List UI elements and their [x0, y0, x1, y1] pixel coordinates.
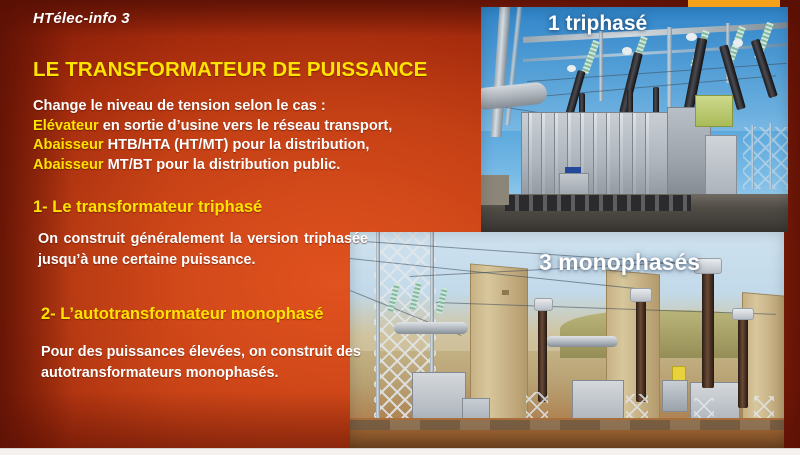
- intro-line-2-highlight: Elévateur: [33, 118, 99, 134]
- switchyard-post-2: [769, 123, 772, 189]
- photo-1-caption: 1 triphasé: [548, 12, 647, 36]
- control-box-mid: [662, 380, 688, 412]
- intro-line-3-rest: HTB/HTA (HT/MT) pour la distribution,: [104, 137, 370, 153]
- single-phase-bushing-2-top: [630, 288, 652, 302]
- site-hut: [481, 175, 509, 205]
- photo-2-caption: 3 monophasés: [539, 249, 700, 276]
- intro-line-2-rest: en sortie d’usine vers le réseau transpo…: [99, 118, 393, 134]
- radiator-fin: [541, 113, 545, 201]
- radiator-fin: [645, 113, 649, 201]
- gantry-post-2: [667, 27, 672, 109]
- single-phase-bushing-4: [738, 316, 748, 408]
- lattice-tower-leg-left: [376, 232, 380, 448]
- radiator-fin: [606, 113, 610, 201]
- busbar-tube-2: [546, 336, 618, 347]
- section-1-body: On construit généralement la version tri…: [38, 229, 368, 271]
- busbar-tube-1: [394, 322, 468, 334]
- section-1-heading: 1- Le transformateur triphasé: [33, 198, 262, 217]
- hv-bushing-2-cap: [622, 47, 632, 55]
- section-2-heading: 2- L’autotransformateur monophasé: [41, 305, 323, 324]
- radiator-fin: [619, 113, 623, 201]
- radiator-fin: [554, 113, 558, 201]
- intro-line-4-rest: MT/BT pour la distribution public.: [104, 157, 341, 173]
- switchyard-post-1: [751, 125, 754, 189]
- transformer-tank: [521, 112, 683, 202]
- switchyard-lattice: [743, 127, 788, 189]
- slide-kicker: HTélec-info 3: [33, 10, 130, 27]
- accent-tab: [688, 0, 780, 7]
- single-phase-bushing-3: [702, 270, 714, 388]
- firewall-1-vent: [502, 290, 509, 295]
- intro-line-1: Change le niveau de tension selon le cas…: [33, 97, 453, 117]
- intro-line-3-highlight: Abaisseur: [33, 137, 104, 153]
- hv-bushing-4-cap: [733, 39, 743, 47]
- single-phase-bushing-1-top: [534, 298, 553, 311]
- single-phase-bushing-2: [636, 298, 646, 402]
- hv-bushing-1-cap: [567, 65, 576, 72]
- slide-canvas: HTélec-info 3 LE TRANSFORMATEUR DE PUISS…: [0, 0, 800, 455]
- control-cabinet: [695, 95, 733, 127]
- intro-line-2: Elévateur en sortie d’usine vers le rése…: [33, 117, 453, 137]
- intro-line-4-highlight: Abaisseur: [33, 157, 104, 173]
- intro-paragraph: Change le niveau de tension selon le cas…: [33, 97, 453, 175]
- photo-three-phase-transformer: [481, 7, 788, 232]
- section-2-body: Pour des puissances élevées, on construi…: [41, 342, 386, 384]
- footer-strip: [0, 448, 800, 455]
- single-phase-bushing-1: [538, 306, 547, 402]
- hv-bushing-3-cap: [686, 33, 697, 41]
- ground-plinths: [350, 420, 784, 430]
- radiator-fin: [632, 113, 636, 201]
- slide-title: LE TRANSFORMATEUR DE PUISSANCE: [33, 58, 427, 82]
- radiator-fin: [528, 113, 532, 201]
- radiator-fin: [593, 113, 597, 201]
- intro-line-4: Abaisseur MT/BT pour la distribution pub…: [33, 156, 453, 176]
- intro-line-3: Abaisseur HTB/HTA (HT/MT) pour la distri…: [33, 136, 453, 156]
- ground-equipment-row: [505, 195, 691, 211]
- single-phase-bushing-4-top: [732, 308, 754, 320]
